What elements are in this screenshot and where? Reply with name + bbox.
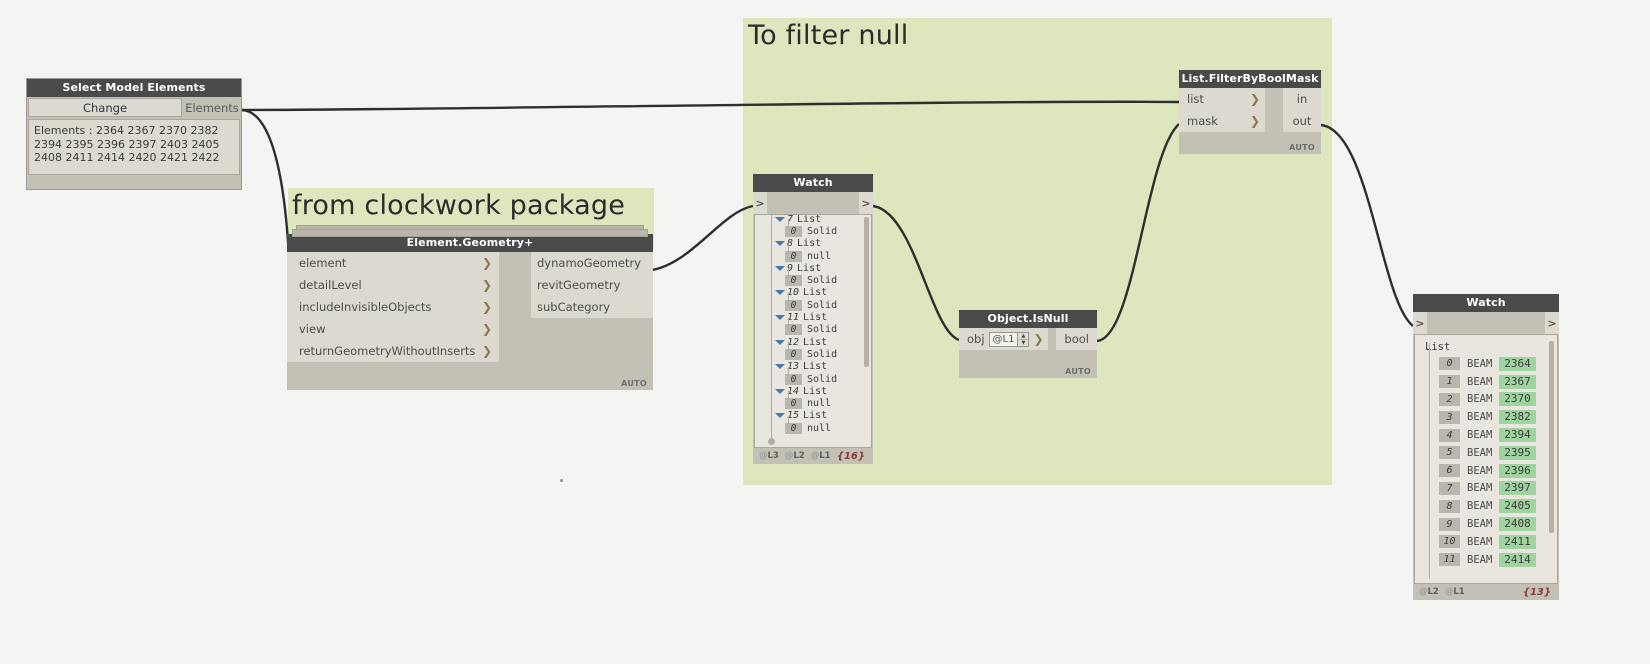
- node-body: obj @L1 ▲ ▼ ❯ bool AUTO: [959, 328, 1097, 378]
- node-body: > > 7List0Solid8List0null9List0Solid10Li…: [753, 192, 873, 464]
- input-port-column: element ❯ detailLevel ❯ includeInvisible…: [287, 252, 499, 362]
- node-title: Object.IsNull: [959, 310, 1097, 328]
- watch-content-view[interactable]: 7List0Solid8List0null9List0Solid10List0S…: [754, 214, 872, 448]
- auto-badge: AUTO: [1065, 367, 1091, 376]
- output-port[interactable]: >: [1545, 312, 1559, 334]
- node-title: Select Model Elements: [27, 79, 241, 97]
- tree-stem: [788, 293, 789, 302]
- watch-value-row: 0null: [755, 250, 871, 262]
- output-port-dynamogeometry[interactable]: dynamoGeometry: [531, 252, 653, 274]
- selected-elements-text: Elements : 2364 2367 2370 2382 2394 2395…: [28, 119, 240, 175]
- tree-stem: [788, 268, 789, 277]
- watch-element-row[interactable]: 2BEAM2370: [1415, 391, 1557, 409]
- chevron-right-icon: ❯: [482, 257, 492, 269]
- value-text: Solid: [807, 275, 837, 286]
- collapse-triangle-icon[interactable]: [775, 315, 785, 320]
- list-type-label: List: [803, 361, 827, 372]
- chevron-right-icon: ❯: [1033, 333, 1043, 345]
- node-center-gap: [1265, 88, 1283, 132]
- input-port-includeinvisibleobjects[interactable]: includeInvisibleObjects ❯: [287, 296, 499, 318]
- output-port-subcategory[interactable]: subCategory: [531, 296, 653, 318]
- canvas-dot-marker: [560, 479, 563, 482]
- tree-stem: [788, 219, 789, 228]
- input-port[interactable]: >: [753, 192, 767, 214]
- node-footer: AUTO: [959, 350, 1097, 378]
- chevron-right-icon: ❯: [482, 279, 492, 291]
- watch-element-row[interactable]: 1BEAM2367: [1415, 373, 1557, 391]
- node-title: Watch: [753, 174, 873, 192]
- tree-rail: [1429, 343, 1430, 579]
- watch-list-row[interactable]: 15List: [755, 410, 871, 422]
- list-type-label: List: [803, 386, 827, 397]
- collapse-triangle-icon[interactable]: [775, 266, 785, 271]
- value-text: Solid: [807, 300, 837, 311]
- group-title-from-clockwork-package: from clockwork package: [292, 190, 625, 221]
- element-category: BEAM: [1467, 358, 1492, 370]
- row-index: 7: [1439, 482, 1460, 495]
- list-type-label: List: [797, 238, 821, 249]
- list-type-label: List: [797, 263, 821, 274]
- output-port-bool[interactable]: bool: [1056, 328, 1097, 350]
- auto-badge: AUTO: [621, 379, 647, 388]
- node-watch-right[interactable]: Watch > > List 0BEAM23641BEAM23672BEAM23…: [1413, 294, 1559, 600]
- row-index: 6: [1439, 464, 1460, 477]
- input-port-mask[interactable]: mask ❯: [1179, 110, 1265, 132]
- port-label: returnGeometryWithoutInserts: [299, 344, 475, 358]
- list-type-label: List: [797, 214, 821, 225]
- group-title-to-filter-null: To filter null: [748, 20, 908, 51]
- tree-stem: [788, 342, 789, 351]
- stepper-buttons[interactable]: ▲ ▼: [1017, 333, 1028, 346]
- vertical-scrollbar[interactable]: [1549, 341, 1554, 533]
- port-label: view: [299, 322, 325, 336]
- node-watch-left[interactable]: Watch > > 7List0Solid8List0null9List0Sol…: [753, 174, 873, 464]
- node-stack-shadow-1: [292, 229, 648, 237]
- node-footer: @L3 @L2 @L1 {16}: [753, 448, 873, 464]
- watch-element-row[interactable]: 3BEAM2382: [1415, 408, 1557, 426]
- input-port[interactable]: >: [1413, 312, 1427, 334]
- dynamo-graph-canvas[interactable]: To filter null from clockwork package Se…: [0, 0, 1650, 664]
- watch-list-row[interactable]: 10List: [755, 287, 871, 299]
- watch-element-row[interactable]: 9BEAM2408: [1415, 515, 1557, 533]
- row-index: 9: [1439, 518, 1460, 531]
- chevron-right-icon: ❯: [1250, 93, 1260, 105]
- collapse-triangle-icon[interactable]: [775, 340, 785, 345]
- watch-list-row[interactable]: 8List: [755, 238, 871, 250]
- watch-list-row[interactable]: 7List: [755, 214, 871, 225]
- watch-list-row[interactable]: 13List: [755, 361, 871, 373]
- watch-element-row[interactable]: 5BEAM2395: [1415, 444, 1557, 462]
- watch-element-row[interactable]: 4BEAM2394: [1415, 426, 1557, 444]
- output-port-revitgeometry[interactable]: revitGeometry: [531, 274, 653, 296]
- node-title: List.FilterByBoolMask: [1179, 70, 1321, 88]
- collapse-triangle-icon[interactable]: [775, 413, 785, 418]
- element-category: BEAM: [1467, 429, 1492, 441]
- element-id: 2408: [1499, 517, 1536, 531]
- watch-content-view[interactable]: List 0BEAM23641BEAM23672BEAM23703BEAM238…: [1414, 334, 1558, 584]
- node-footer: AUTO: [287, 362, 653, 390]
- element-id: 2395: [1499, 446, 1536, 460]
- value-text: Solid: [807, 324, 837, 335]
- row-index: 8: [1439, 500, 1460, 513]
- value-text: null: [807, 251, 831, 262]
- port-label: mask: [1187, 114, 1218, 128]
- port-label: list: [1187, 92, 1204, 106]
- node-body: > > List 0BEAM23641BEAM23672BEAM23703BEA…: [1413, 312, 1559, 600]
- watch-value-row: 0null: [755, 422, 871, 434]
- tree-stem: [788, 416, 789, 425]
- watch-row-list: 0BEAM23641BEAM23672BEAM23703BEAM23824BEA…: [1415, 355, 1557, 569]
- input-port-element[interactable]: element ❯: [287, 252, 499, 274]
- output-port-elements[interactable]: Elements: [183, 97, 241, 118]
- node-title: Watch: [1413, 294, 1559, 312]
- row-index: 4: [1439, 429, 1460, 442]
- row-index: 11: [1439, 553, 1460, 566]
- level-badge-l3[interactable]: @L3: [759, 451, 779, 461]
- chevron-right-icon: ❯: [482, 301, 492, 313]
- watch-element-row[interactable]: 6BEAM2396: [1415, 462, 1557, 480]
- watch-value-row: 0null: [755, 397, 871, 409]
- level-badge-l2[interactable]: @L2: [1419, 587, 1439, 597]
- collapse-triangle-icon[interactable]: [775, 241, 785, 246]
- element-category: BEAM: [1467, 465, 1492, 477]
- stepper-down-icon[interactable]: ▼: [1018, 339, 1028, 346]
- input-port-returngeometrywithoutinserts[interactable]: returnGeometryWithoutInserts ❯: [287, 340, 499, 362]
- input-port-view[interactable]: view ❯: [287, 318, 499, 340]
- watch-row-list: 7List0Solid8List0null9List0Solid10List0S…: [755, 214, 871, 434]
- element-id: 2364: [1499, 357, 1536, 371]
- lacing-level-value: @L1: [990, 333, 1018, 346]
- output-port-out[interactable]: out: [1283, 110, 1321, 132]
- element-id: 2394: [1499, 428, 1536, 442]
- value-text: Solid: [807, 374, 837, 385]
- element-id: 2397: [1499, 481, 1536, 495]
- watch-value-row: 0Solid: [755, 324, 871, 336]
- tree-stem: [788, 318, 789, 327]
- watch-element-row[interactable]: 8BEAM2405: [1415, 497, 1557, 515]
- node-footer: @L2 @L1 {13}: [1413, 584, 1559, 600]
- change-button[interactable]: Change: [28, 98, 182, 117]
- level-badge-l2[interactable]: @L2: [785, 451, 805, 461]
- collapse-triangle-icon[interactable]: [775, 389, 785, 394]
- element-id: 2414: [1499, 553, 1536, 567]
- element-id: 2367: [1499, 375, 1536, 389]
- port-label: obj: [967, 332, 985, 346]
- row-index: 1: [1439, 375, 1460, 388]
- chevron-right-icon: ❯: [482, 323, 492, 335]
- auto-badge: AUTO: [1289, 143, 1315, 152]
- item-count-badge: {16}: [837, 451, 865, 462]
- value-text: null: [807, 423, 831, 434]
- watch-element-row[interactable]: 10BEAM2411: [1415, 533, 1557, 551]
- node-footer: AUTO: [1179, 132, 1321, 154]
- output-port[interactable]: >: [859, 192, 873, 214]
- value-text: Solid: [807, 349, 837, 360]
- port-label: detailLevel: [299, 278, 362, 292]
- row-index: 10: [1439, 535, 1460, 548]
- watch-element-row[interactable]: 0BEAM2364: [1415, 355, 1557, 373]
- level-badge-l1[interactable]: @L1: [811, 451, 831, 461]
- output-port-column: dynamoGeometry revitGeometry subCategory: [531, 252, 653, 362]
- node-select-model-elements[interactable]: Select Model Elements Change Elements El…: [26, 78, 242, 190]
- element-category: BEAM: [1467, 482, 1492, 494]
- watch-list-row[interactable]: 11List: [755, 311, 871, 323]
- port-label: element: [299, 256, 346, 270]
- value-text: Solid: [807, 226, 837, 237]
- watch-value-row: 0Solid: [755, 348, 871, 360]
- list-header: List: [1415, 335, 1557, 355]
- node-list-filterbyboolmask[interactable]: List.FilterByBoolMask list ❯ mask ❯ in o: [1179, 70, 1321, 154]
- row-index: 2: [1439, 393, 1460, 406]
- element-category: BEAM: [1467, 500, 1492, 512]
- tree-rail-dot: [768, 438, 775, 445]
- collapse-triangle-icon[interactable]: [775, 364, 785, 369]
- value-text: null: [807, 398, 831, 409]
- row-index: 3: [1439, 411, 1460, 424]
- element-category: BEAM: [1467, 554, 1492, 566]
- watch-value-row: 0Solid: [755, 225, 871, 237]
- watch-value-row: 0Solid: [755, 299, 871, 311]
- chevron-right-icon: ❯: [482, 345, 492, 357]
- node-footer-pad: [27, 175, 241, 189]
- watch-element-row[interactable]: 11BEAM2414: [1415, 551, 1557, 569]
- input-port-obj[interactable]: obj @L1 ▲ ▼ ❯: [959, 328, 1048, 350]
- element-id: 2411: [1499, 535, 1536, 549]
- watch-value-row: 0Solid: [755, 274, 871, 286]
- list-type-label: List: [803, 312, 827, 323]
- element-category: BEAM: [1467, 393, 1492, 405]
- list-type-label: List: [803, 287, 827, 298]
- element-id: 2396: [1499, 464, 1536, 478]
- node-body: element ❯ detailLevel ❯ includeInvisible…: [287, 252, 653, 390]
- watch-value-row: 0Solid: [755, 373, 871, 385]
- element-id: 2405: [1499, 499, 1536, 513]
- watch-list-row[interactable]: 14List: [755, 385, 871, 397]
- row-index: 0: [1439, 357, 1460, 370]
- watch-element-row[interactable]: 7BEAM2397: [1415, 480, 1557, 498]
- item-count-badge: {13}: [1523, 587, 1551, 598]
- watch-list-row[interactable]: 12List: [755, 336, 871, 348]
- node-center-gap: [499, 252, 531, 362]
- chevron-right-icon: ❯: [1250, 115, 1260, 127]
- element-id: 2370: [1499, 392, 1536, 406]
- port-label: includeInvisibleObjects: [299, 300, 432, 314]
- list-type-label: List: [803, 337, 827, 348]
- node-center-gap: [1048, 328, 1057, 350]
- watch-list-row[interactable]: 9List: [755, 262, 871, 274]
- lacing-level-stepper[interactable]: @L1 ▲ ▼: [989, 332, 1030, 347]
- node-body: Change Elements Elements : 2364 2367 237…: [27, 97, 241, 189]
- tree-stem: [788, 244, 789, 253]
- output-port-column: in out: [1283, 88, 1321, 132]
- collapse-triangle-icon[interactable]: [775, 217, 785, 222]
- list-type-label: List: [803, 410, 827, 421]
- node-element-geometry-plus[interactable]: Element.Geometry+ element ❯ detailLevel …: [287, 234, 653, 390]
- input-port-detaillevel[interactable]: detailLevel ❯: [287, 274, 499, 296]
- input-port-list[interactable]: list ❯: [1179, 88, 1265, 110]
- element-category: BEAM: [1467, 376, 1492, 388]
- element-id: 2382: [1499, 410, 1536, 424]
- element-category: BEAM: [1467, 536, 1492, 548]
- element-category: BEAM: [1467, 447, 1492, 459]
- output-port-in[interactable]: in: [1283, 88, 1321, 110]
- input-port-column: list ❯ mask ❯: [1179, 88, 1265, 132]
- level-badge-l1[interactable]: @L1: [1445, 587, 1465, 597]
- tree-stem: [788, 367, 789, 376]
- element-category: BEAM: [1467, 518, 1492, 530]
- row-index: 5: [1439, 446, 1460, 459]
- node-body: list ❯ mask ❯ in out AUTO: [1179, 88, 1321, 154]
- tree-stem: [788, 391, 789, 400]
- node-object-isnull[interactable]: Object.IsNull obj @L1 ▲ ▼ ❯ bool: [959, 310, 1097, 378]
- collapse-triangle-icon[interactable]: [775, 290, 785, 295]
- element-category: BEAM: [1467, 411, 1492, 423]
